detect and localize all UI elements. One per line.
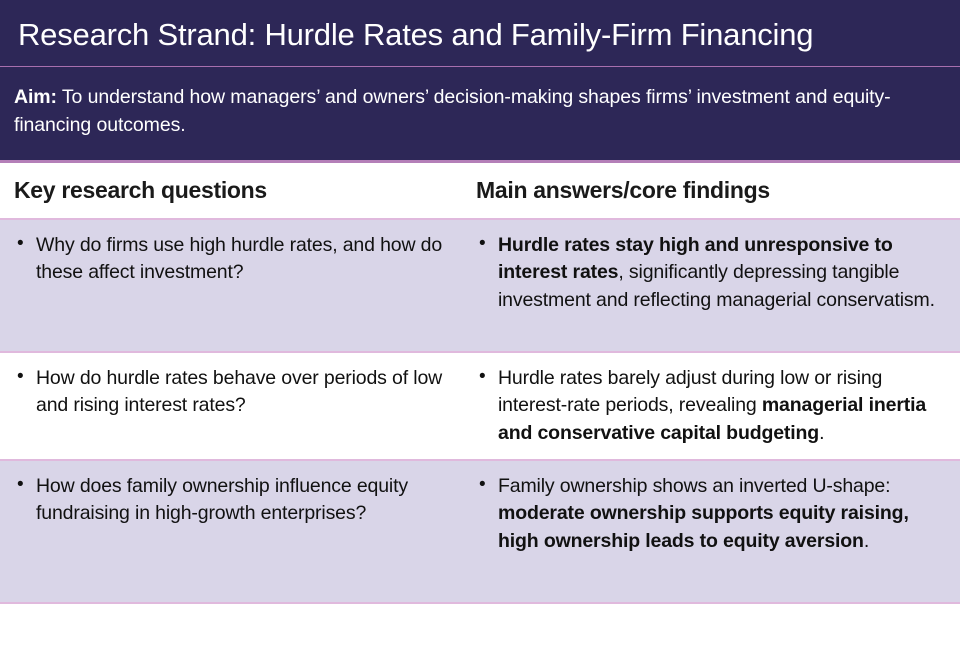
question-text: How does family ownership influence equi…: [14, 473, 444, 528]
answer-cell: Hurdle rates barely adjust during low or…: [458, 353, 960, 459]
question-text: How do hurdle rates behave over periods …: [14, 365, 444, 420]
header-block: Research Strand: Hurdle Rates and Family…: [0, 0, 960, 163]
qa-table: Why do firms use high hurdle rates, and …: [0, 218, 960, 604]
table-row: How do hurdle rates behave over periods …: [0, 353, 960, 461]
question-cell: How does family ownership influence equi…: [0, 461, 458, 602]
answer-cell: Family ownership shows an inverted U-sha…: [458, 461, 960, 602]
question-cell: Why do firms use high hurdle rates, and …: [0, 220, 458, 351]
aim-bar: Aim: To understand how managers’ and own…: [0, 67, 960, 160]
aim-statement: Aim: To understand how managers’ and own…: [14, 83, 942, 140]
research-strand-slide: Research Strand: Hurdle Rates and Family…: [0, 0, 960, 656]
table-row: How does family ownership influence equi…: [0, 461, 960, 604]
title-bar: Research Strand: Hurdle Rates and Family…: [0, 0, 960, 67]
aim-body: To understand how managers’ and owners’ …: [14, 86, 891, 136]
column-headings: Key research questions Main answers/core…: [0, 163, 960, 218]
column-heading-answers: Main answers/core findings: [458, 177, 960, 204]
column-heading-questions: Key research questions: [0, 177, 458, 204]
answer-cell: Hurdle rates stay high and unresponsive …: [458, 220, 960, 351]
table-row: Why do firms use high hurdle rates, and …: [0, 220, 960, 353]
answer-text: Hurdle rates barely adjust during low or…: [476, 365, 946, 448]
question-text: Why do firms use high hurdle rates, and …: [14, 232, 444, 287]
aim-label: Aim:: [14, 86, 57, 108]
answer-text: Hurdle rates stay high and unresponsive …: [476, 232, 946, 315]
page-title: Research Strand: Hurdle Rates and Family…: [18, 18, 942, 52]
question-cell: How do hurdle rates behave over periods …: [0, 353, 458, 459]
answer-text: Family ownership shows an inverted U-sha…: [476, 473, 946, 556]
